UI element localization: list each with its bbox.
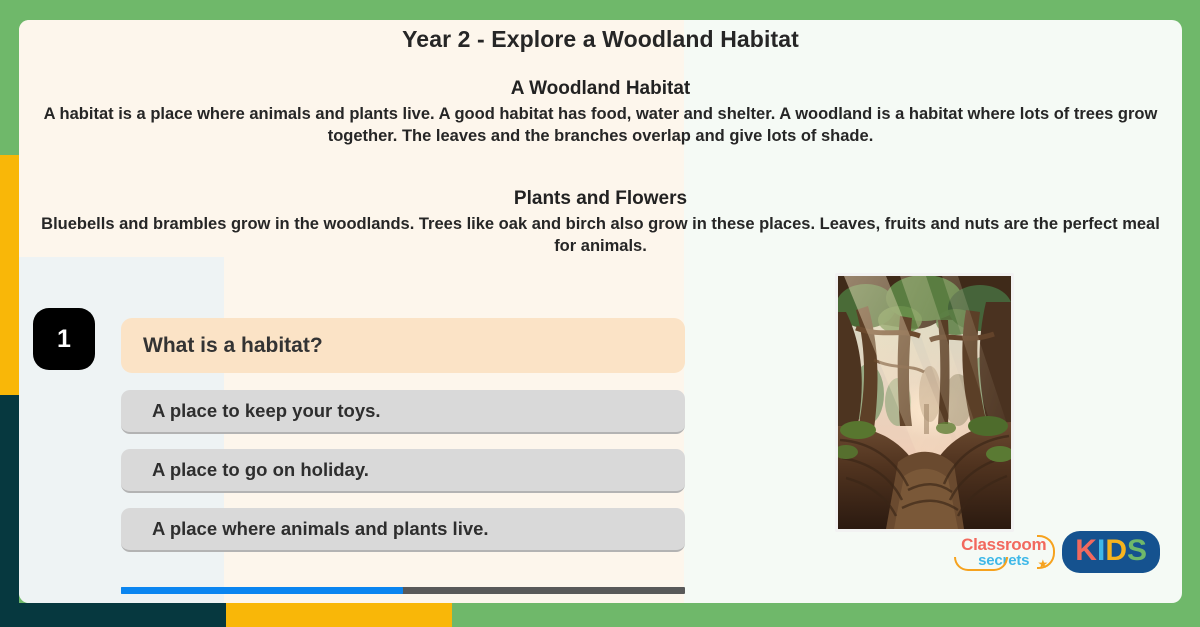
section-plants-and-flowers: Plants and Flowers Bluebells and bramble… (33, 188, 1168, 258)
progress-bar-track[interactable] (121, 587, 685, 594)
section-body: Bluebells and brambles grow in the woodl… (33, 214, 1168, 258)
logo-swoosh-under-icon (954, 557, 1008, 571)
slide-stage: Year 2 - Explore a Woodland Habitat A Wo… (0, 0, 1200, 627)
left-edge-green-strip (0, 0, 19, 155)
brand-logo: Classroom secrets ★ KIDS (957, 531, 1160, 573)
question-text: What is a habitat? (121, 318, 685, 373)
answer-option-1[interactable]: A place to keep your toys. (121, 390, 685, 434)
woodland-habitat-image (835, 273, 1014, 532)
section-heading: Plants and Flowers (33, 188, 1168, 210)
section-body: A habitat is a place where animals and p… (33, 104, 1168, 148)
left-edge-teal-strip (0, 395, 19, 627)
answer-option-2[interactable]: A place to go on holiday. (121, 449, 685, 493)
logo-kids-k: K (1075, 534, 1097, 567)
logo-kids-d: D (1105, 534, 1127, 567)
section-woodland-habitat: A Woodland Habitat A habitat is a place … (33, 78, 1168, 148)
logo-kids-s: S (1127, 534, 1147, 567)
section-heading: A Woodland Habitat (33, 78, 1168, 100)
slide-content: Year 2 - Explore a Woodland Habitat A Wo… (19, 20, 1182, 603)
progress-bar-fill (121, 587, 403, 594)
left-edge-yellow-strip (0, 155, 19, 395)
classroom-secrets-logo: Classroom secrets ★ (957, 534, 1050, 570)
logo-classroom-text: Classroom (961, 536, 1046, 553)
page-title: Year 2 - Explore a Woodland Habitat (19, 26, 1182, 53)
woodland-illustration (838, 276, 1011, 529)
bottom-green-strip (452, 603, 1200, 627)
question-number-badge: 1 (33, 308, 95, 370)
bottom-teal-strip (0, 603, 226, 627)
bottom-yellow-strip (226, 603, 452, 627)
slide-card: Year 2 - Explore a Woodland Habitat A Wo… (19, 20, 1182, 603)
kids-logo: KIDS (1062, 531, 1160, 573)
answer-option-3[interactable]: A place where animals and plants live. (121, 508, 685, 552)
logo-star-icon: ★ (1038, 558, 1049, 570)
